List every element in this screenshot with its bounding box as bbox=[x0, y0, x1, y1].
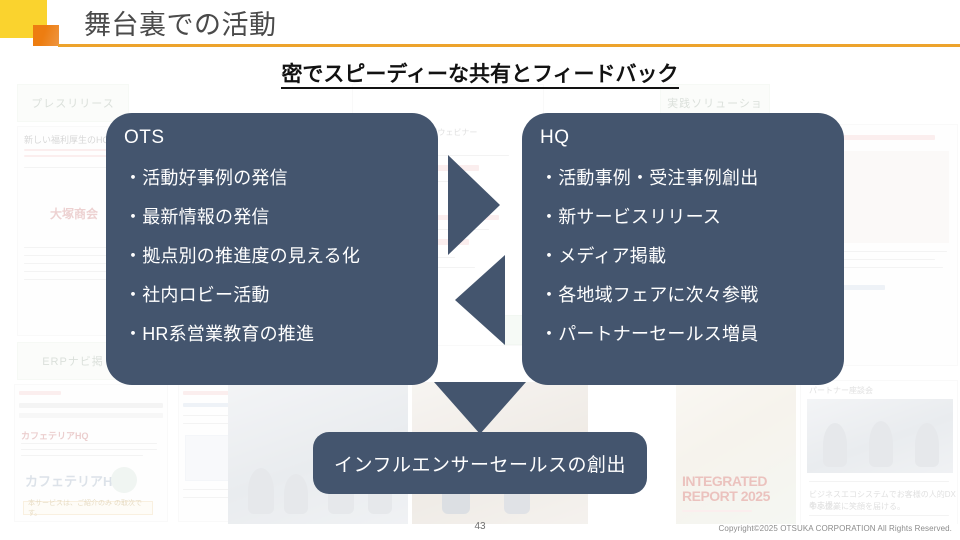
panel-ots-item: ・最新情報の発信 bbox=[124, 198, 438, 237]
panel-ots-item: ・社内ロビー活動 bbox=[124, 276, 438, 315]
page-title: 舞台裏での活動 bbox=[84, 9, 277, 42]
panel-outcome: インフルエンサーセールスの創出 bbox=[313, 432, 647, 494]
background-warning-note: 本サービスは、ご紹介のみ の取次です。 bbox=[23, 501, 153, 515]
panel-hq-heading: HQ bbox=[540, 127, 844, 149]
arrow-down-icon bbox=[434, 382, 526, 434]
report-line-1: INTEGRATED bbox=[682, 474, 770, 489]
panel-hq-item: ・メディア掲載 bbox=[540, 237, 844, 276]
panel-hq: HQ ・活動事例・受注事例創出 ・新サービスリリース ・メディア掲載 ・各地域フ… bbox=[522, 113, 844, 385]
background-chip-label: プレスリリース bbox=[31, 95, 114, 111]
background-chip-label: ERPナビ掲 bbox=[42, 353, 104, 369]
panel-outcome-text: インフルエンサーセールスの創出 bbox=[334, 450, 626, 477]
slide-root: プレスリリース 新しい福利厚生のHQ、大塚商会 大塚商会 ERPナビ掲 カフェテ… bbox=[0, 0, 960, 540]
copyright-notice: Copyright©2025 OTSUKA CORPORATION All Ri… bbox=[719, 524, 952, 533]
background-report-title: INTEGRATED REPORT 2025 bbox=[682, 474, 770, 504]
background-thumb-cafeteria: カフェテリアHQ カフェテリアHQ 本サービスは、ご紹介のみ の取次です。 bbox=[14, 384, 168, 522]
background-cafeteria-mark: カフェテリアHQ bbox=[25, 471, 123, 490]
background-brand-mark: 大塚商会 bbox=[50, 205, 98, 222]
panel-ots-item: ・HR系営業教育の推進 bbox=[124, 315, 438, 354]
header-divider-rule bbox=[58, 44, 960, 47]
decor-orange-square bbox=[33, 25, 59, 46]
slide-subtitle: 密でスピーディーな共有とフィードバック bbox=[0, 58, 960, 88]
background-cafeteria-heading: カフェテリアHQ bbox=[21, 429, 89, 442]
panel-ots-item: ・活動好事例の発信 bbox=[124, 159, 438, 198]
panel-hq-item: ・新サービスリリース bbox=[540, 198, 844, 237]
panel-hq-item: ・パートナーセールス増員 bbox=[540, 315, 844, 354]
slide-subtitle-text: 密でスピーディーな共有とフィードバック bbox=[281, 63, 678, 89]
arrow-right-icon bbox=[448, 155, 500, 255]
panel-hq-item: ・各地域フェアに次々参戦 bbox=[540, 276, 844, 315]
report-line-2: REPORT 2025 bbox=[682, 489, 770, 504]
background-roundtable-label: パートナー座談会 bbox=[809, 385, 873, 396]
background-report-cover: INTEGRATED REPORT 2025 bbox=[676, 382, 796, 524]
arrow-left-icon bbox=[455, 255, 505, 345]
background-chip-press-release: プレスリリース bbox=[17, 84, 129, 122]
panel-ots: OTS ・活動好事例の発信 ・最新情報の発信 ・拠点別の推進度の見える化 ・社内… bbox=[106, 113, 438, 385]
panel-ots-list: ・活動好事例の発信 ・最新情報の発信 ・拠点別の推進度の見える化 ・社内ロビー活… bbox=[124, 159, 438, 354]
background-roundtable-copy-2: 中小企業に笑顔を届ける。 bbox=[809, 501, 905, 512]
panel-ots-heading: OTS bbox=[124, 127, 438, 149]
background-chip-label: 実践ソリューショ bbox=[667, 95, 763, 111]
panel-ots-item: ・拠点別の推進度の見える化 bbox=[124, 237, 438, 276]
background-warning-text: 本サービスは、ご紹介のみ の取次です。 bbox=[28, 498, 152, 518]
panel-hq-item: ・活動事例・受注事例創出 bbox=[540, 159, 844, 198]
panel-hq-list: ・活動事例・受注事例創出 ・新サービスリリース ・メディア掲載 ・各地域フェアに… bbox=[540, 159, 844, 354]
background-roundtable: パートナー座談会 ビジネスエコシステムでお客様の人的DXを支援。 中小企業に笑顔… bbox=[800, 380, 958, 524]
